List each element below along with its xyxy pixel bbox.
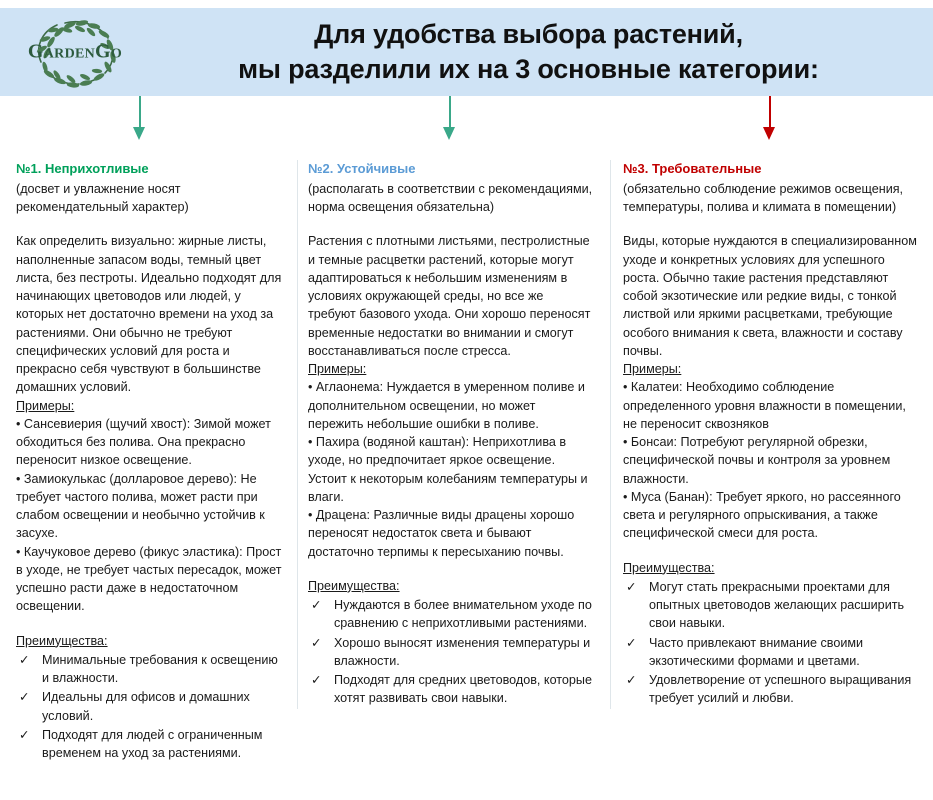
list-item-label: Нуждаются в более внимательном уходе по … bbox=[334, 598, 592, 630]
category-title: №2. Устойчивые bbox=[308, 160, 594, 179]
list-item: ✓Нуждаются в более внимательном уходе по… bbox=[308, 596, 594, 633]
list-item-label: Идеальны для офисов и домашних условий. bbox=[42, 690, 250, 722]
arrow-down-green-1 bbox=[131, 96, 149, 140]
category-subtitle: (досвет и увлажнение носят рекомендатель… bbox=[16, 180, 283, 217]
arrow-shaft bbox=[139, 96, 141, 129]
list-item: ✓Идеальны для офисов и домашних условий. bbox=[16, 688, 283, 725]
logo-text: GardenGo bbox=[0, 41, 150, 64]
list-item: Калатеи: Необходимо соблюдение определен… bbox=[623, 378, 919, 433]
list-item: ✓Минимальные требования к освещению и вл… bbox=[16, 651, 283, 688]
check-icon: ✓ bbox=[626, 671, 636, 689]
examples-list: Сансевиерия (щучий хвост): Зимой может о… bbox=[16, 415, 283, 616]
examples-list: Аглаонема: Нуждается в умеренном поливе … bbox=[308, 378, 594, 561]
arrow-head bbox=[443, 127, 455, 140]
category-columns: №1. Неприхотливые (досвет и увлажнение н… bbox=[0, 160, 933, 763]
list-item: Аглаонема: Нуждается в умеренном поливе … bbox=[308, 378, 594, 433]
check-icon: ✓ bbox=[311, 671, 321, 689]
page-title-line-1: Для удобства выбора растений, bbox=[150, 17, 907, 52]
list-item: Муса (Банан): Требует яркого, но рассеян… bbox=[623, 488, 919, 543]
advantages-label: Преимущества: bbox=[308, 577, 594, 595]
examples-label: Примеры: bbox=[16, 397, 283, 415]
list-item: ✓Хорошо выносят изменения температуры и … bbox=[308, 634, 594, 671]
arrow-down-red-3 bbox=[761, 96, 779, 140]
advantages-list: ✓Могут стать прекрасными проектами для о… bbox=[623, 578, 919, 708]
list-item: ✓Могут стать прекрасными проектами для о… bbox=[623, 578, 919, 633]
check-icon: ✓ bbox=[626, 578, 636, 596]
category-subtitle: (располагать в соответствии с рекомендац… bbox=[308, 180, 594, 217]
page-title-line-2: мы разделили их на 3 основные категории: bbox=[150, 52, 907, 87]
list-item-label: Часто привлекают внимание своими экзотич… bbox=[649, 636, 863, 668]
list-item: Сансевиерия (щучий хвост): Зимой может о… bbox=[16, 415, 283, 470]
arrow-head bbox=[763, 127, 775, 140]
list-item: Каучуковое дерево (фикус эластика): Прос… bbox=[16, 543, 283, 616]
list-item-label: Могут стать прекрасными проектами для оп… bbox=[649, 580, 904, 631]
check-icon: ✓ bbox=[19, 688, 29, 706]
advantages-list: ✓Минимальные требования к освещению и вл… bbox=[16, 651, 283, 763]
category-column-resilient: №2. Устойчивые (располагать в соответств… bbox=[297, 160, 610, 709]
page-title: Для удобства выбора растений, мы раздели… bbox=[150, 17, 933, 86]
list-item: Пахира (водяной каштан): Неприхотлива в … bbox=[308, 433, 594, 506]
examples-label: Примеры: bbox=[308, 360, 594, 378]
check-icon: ✓ bbox=[311, 596, 321, 614]
list-item: ✓Подходят для средних цветоводов, которы… bbox=[308, 671, 594, 708]
category-description: Как определить визуально: жирные листы, … bbox=[16, 232, 283, 396]
check-icon: ✓ bbox=[626, 634, 636, 652]
advantages-label: Преимущества: bbox=[623, 559, 919, 577]
category-title: №1. Неприхотливые bbox=[16, 160, 283, 179]
list-item-label: Хорошо выносят изменения температуры и в… bbox=[334, 636, 590, 668]
arrow-down-green-2 bbox=[441, 96, 459, 140]
category-description: Растения с плотными листьями, пестролист… bbox=[308, 232, 594, 360]
check-icon: ✓ bbox=[19, 651, 29, 669]
list-item: ✓Подходят для людей с ограниченным време… bbox=[16, 726, 283, 763]
advantages-label: Преимущества: bbox=[16, 632, 283, 650]
list-item-label: Минимальные требования к освещению и вла… bbox=[42, 653, 278, 685]
logo: GardenGo bbox=[0, 8, 150, 96]
category-description: Виды, которые нуждаются в специализирова… bbox=[623, 232, 919, 360]
arrow-head bbox=[133, 127, 145, 140]
list-item-label: Подходят для средних цветоводов, которые… bbox=[334, 673, 592, 705]
category-column-unpretentious: №1. Неприхотливые (досвет и увлажнение н… bbox=[0, 160, 297, 763]
list-item: Бонсаи: Потребуют регулярной обрезки, сп… bbox=[623, 433, 919, 488]
list-item: Замиокулькас (долларовое дерево): Не тре… bbox=[16, 470, 283, 543]
list-item: ✓Удовлетворение от успешного выращивания… bbox=[623, 671, 919, 708]
list-item-label: Подходят для людей с ограниченным времен… bbox=[42, 728, 262, 760]
list-item: Драцена: Различные виды драцены хорошо п… bbox=[308, 506, 594, 561]
category-subtitle: (обязательно соблюдение режимов освещени… bbox=[623, 180, 919, 217]
arrow-shaft bbox=[449, 96, 451, 129]
check-icon: ✓ bbox=[19, 726, 29, 744]
examples-label: Примеры: bbox=[623, 360, 919, 378]
header-band: GardenGo Для удобства выбора растений, м… bbox=[0, 8, 933, 96]
arrow-shaft bbox=[769, 96, 771, 129]
examples-list: Калатеи: Необходимо соблюдение определен… bbox=[623, 378, 919, 542]
category-column-demanding: №3. Требовательные (обязательно соблюден… bbox=[610, 160, 933, 709]
list-item-label: Удовлетворение от успешного выращивания … bbox=[649, 673, 911, 705]
list-item: ✓Часто привлекают внимание своими экзоти… bbox=[623, 634, 919, 671]
category-title: №3. Требовательные bbox=[623, 160, 919, 179]
advantages-list: ✓Нуждаются в более внимательном уходе по… bbox=[308, 596, 594, 708]
check-icon: ✓ bbox=[311, 634, 321, 652]
